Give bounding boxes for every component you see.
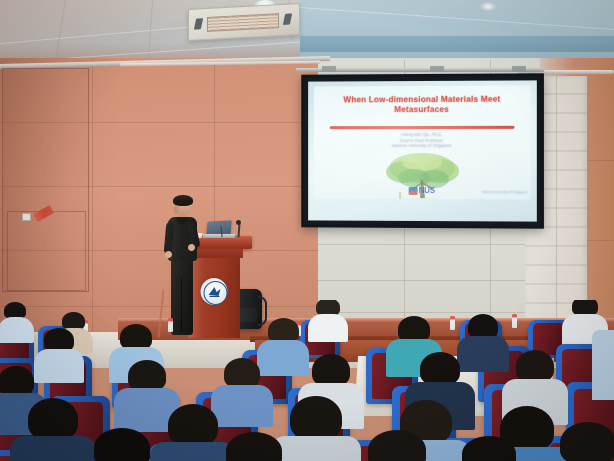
crest-emblem-mark [207, 286, 221, 298]
ac-vent [194, 18, 203, 29]
door-switch-plate [22, 213, 31, 221]
screen-bracket [512, 66, 526, 72]
slide-speaker-block: Cheng-Wei Qiu, Ph.D. Dean's Chair Profes… [324, 132, 521, 149]
ac-grille [207, 13, 279, 32]
person-shoulders [150, 442, 236, 461]
person-hair [226, 432, 282, 461]
slide-speaker-affiliation: National University of Singapore [324, 143, 521, 149]
person-shoulders [592, 330, 614, 400]
side-exit-door[interactable] [2, 68, 89, 292]
person-hair [168, 404, 218, 446]
water-bottle [450, 316, 455, 330]
ac-vent [283, 13, 292, 24]
blind-seam [556, 76, 557, 336]
water-bottle [168, 318, 173, 332]
ceiling-drop-band [300, 36, 614, 52]
presentation-slide: When Low-dimensional Materials Meet Meta… [314, 85, 531, 199]
nus-logo: NUS [408, 186, 435, 195]
auditorium-photo: When Low-dimensional Materials Meet Meta… [0, 0, 614, 461]
nus-logo-text: NUS [419, 186, 435, 195]
screen-surface: When Low-dimensional Materials Meet Meta… [308, 80, 537, 221]
slide-divider-rule [330, 126, 515, 129]
door-lower-panel [7, 211, 86, 291]
screen-bracket [430, 66, 444, 72]
person-shoulders [0, 317, 34, 343]
person-shoulders [10, 436, 96, 461]
person-hair [560, 422, 614, 461]
microphone-icon [236, 220, 241, 225]
person-hair [0, 366, 34, 396]
person-shoulders [34, 349, 84, 383]
person-hair [224, 358, 260, 388]
wall-panel-seam [318, 244, 540, 245]
person-hair [94, 428, 150, 461]
person-shoulders [257, 340, 309, 376]
screen-bracket [322, 66, 336, 72]
person-hair [312, 354, 350, 386]
person-hair [516, 350, 554, 382]
wall-panel-seam [318, 280, 540, 281]
person-shoulders [271, 436, 361, 461]
audience-area [0, 300, 614, 461]
person-hair [28, 398, 78, 440]
person-shoulders [211, 385, 273, 427]
person-hair [420, 352, 460, 385]
presenter-hand-right [188, 244, 195, 251]
presenter-collar [177, 217, 188, 224]
presenter-hand-left [165, 251, 172, 258]
slide-corner-note: National University of Singapore [482, 190, 528, 194]
presenter-hair [173, 195, 193, 206]
person-shoulders [457, 336, 509, 372]
nus-logo-mark [408, 186, 417, 194]
ceiling-downlight [480, 2, 496, 11]
air-conditioner-unit [188, 3, 300, 41]
projection-screen: When Low-dimensional Materials Meet Meta… [301, 73, 544, 228]
laptop-keyboard [203, 234, 236, 238]
person-hair [128, 360, 166, 391]
water-bottle [512, 314, 517, 328]
slide-title: When Low-dimensional Materials Meet Meta… [320, 95, 525, 116]
person-shoulders [308, 314, 348, 342]
person-hair [290, 396, 342, 440]
